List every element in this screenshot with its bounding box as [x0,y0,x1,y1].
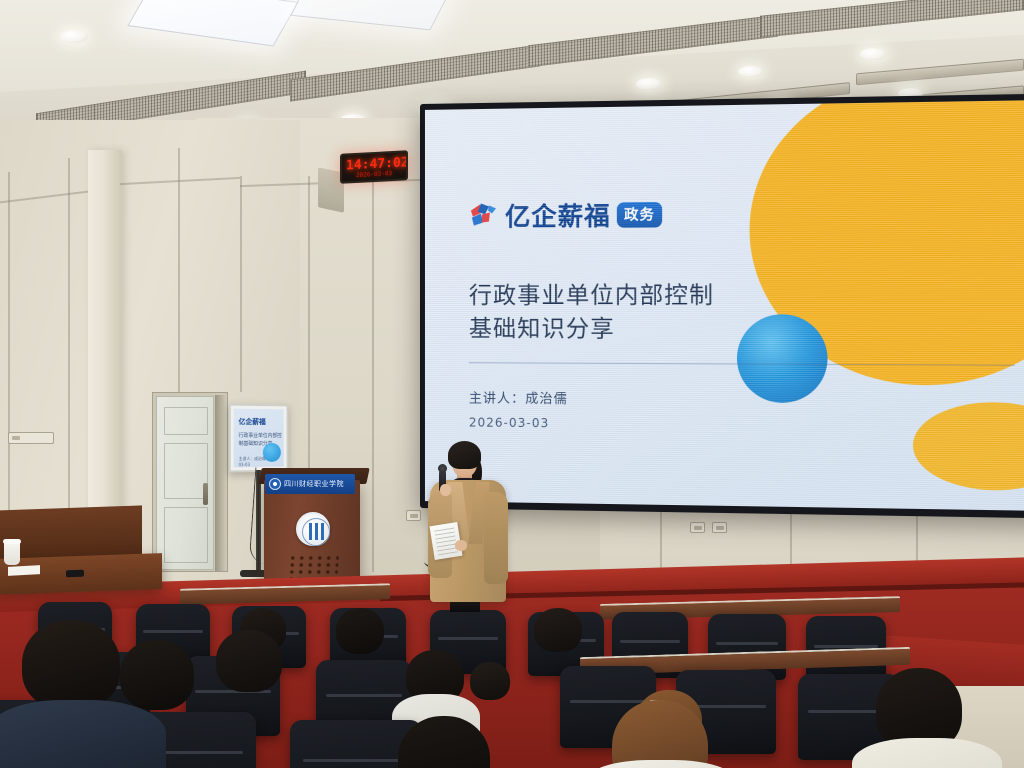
wall-seam [178,148,180,398]
ceiling-downlight [60,30,88,43]
yiqixinfu-logo-icon [469,202,499,228]
audience-head [534,608,582,652]
door-leaf[interactable] [156,396,214,570]
brand-name: 亿企薪福 [505,196,611,233]
wall-seam [308,176,310,506]
door-panel [164,507,208,563]
audience-head [216,630,282,692]
audience-head [22,620,120,710]
wall-socket[interactable] [406,510,421,521]
confidence-monitor-screen: 亿企薪福 行政事业单位内部控制基础知识分享 主讲人：成治儒 2026-03-03 [234,409,284,468]
table-documents [8,565,40,576]
yellow-ellipse-small-icon [913,402,1024,492]
door-handle[interactable] [203,483,208,505]
wall-seam [372,182,374,572]
ceiling-downlight [860,48,886,60]
slide-date: 2026-03-03 [469,415,549,430]
presenter-hand-left [440,484,451,496]
confidence-monitor-logo: 亿企薪福 [239,417,266,427]
presenter-arm-right [484,492,508,584]
presenter-hair [448,441,481,469]
slide-title-line1: 行政事业单位内部控制 [469,279,904,313]
ceiling-downlight [636,78,662,90]
wall-socket[interactable] [712,522,727,533]
door-panel [164,443,208,499]
confidence-monitor: 亿企薪福 行政事业单位内部控制基础知识分享 主讲人：成治儒 2026-03-03 [229,404,289,473]
audience-head [120,640,194,710]
lectern-banner-text: 四川财经职业学院 [284,479,344,489]
led-wall-clock: 14:47:02 2026-03-03 [340,150,408,184]
school-seal-icon [269,478,281,490]
led-presentation-screen: 亿企薪福 政务 行政事业单位内部控制 基础知识分享 主讲人：成治儒 2026-0… [420,94,1024,519]
door-jamb [215,395,226,571]
wall-socket[interactable] [690,522,705,533]
school-emblem [296,512,330,546]
wall-seam [240,176,242,392]
lectern-banner: 四川财经职业学院 [265,474,355,494]
audience-head [336,608,384,654]
monitor-blue-circle-icon [263,443,281,462]
brand-badge: 政务 [617,201,662,227]
lecture-hall-photo: 14:47:02 2026-03-03 亿企薪福 政务 [0,0,1024,768]
brand-logo: 亿企薪福 政务 [469,196,662,234]
door-panel [164,407,208,435]
paper-cup [4,541,20,565]
slide-title-line2: 基础知识分享 [469,313,904,347]
slide-presenter: 主讲人：成治儒 [469,387,568,407]
ceiling-downlight [738,66,763,77]
side-door[interactable] [152,392,228,572]
slide-surface: 亿企薪福 政务 行政事业单位内部控制 基础知识分享 主讲人：成治儒 2026-0… [425,100,1024,511]
slide-title: 行政事业单位内部控制 基础知识分享 [469,279,904,347]
mobile-phone [66,570,84,578]
audience-head [470,662,510,700]
wall-control-panel[interactable] [8,432,54,444]
audience-shoulders [0,700,166,768]
presenter-hand-right [455,540,467,551]
